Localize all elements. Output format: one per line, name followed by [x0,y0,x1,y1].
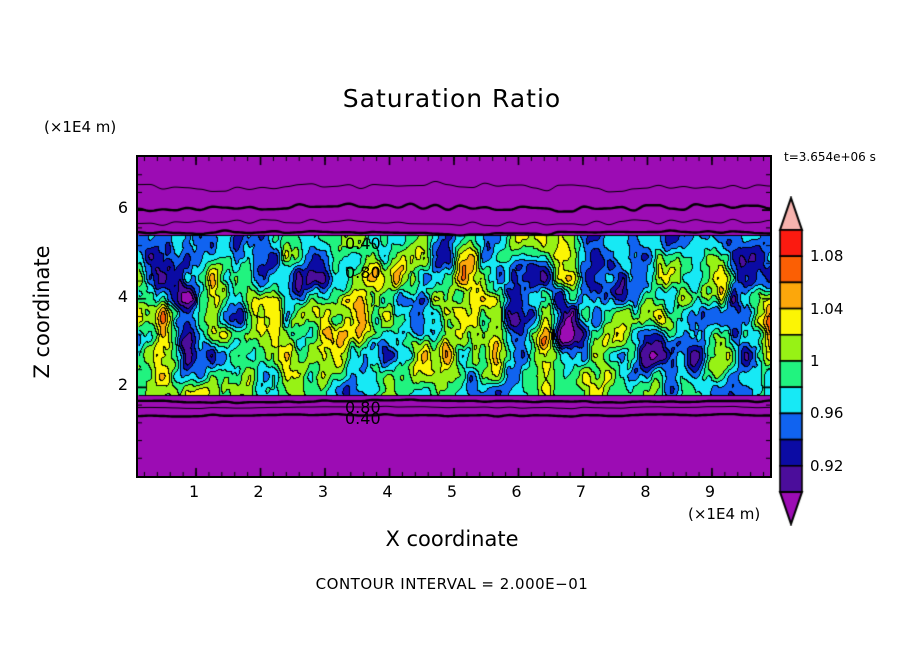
x-tick-label: 4 [373,482,403,501]
y-tick-label: 4 [102,287,128,306]
x-axis-units-label: (×1E4 m) [688,505,760,523]
timestamp-annotation: t=3.654e+06 s [784,150,876,164]
contour-field [138,157,770,476]
colorbar-tick-label: 1.08 [810,247,843,265]
page-title: Saturation Ratio [0,84,904,113]
y-tick-label: 2 [102,375,128,394]
x-tick-label: 8 [630,482,660,501]
colorbar-tick-label: 1 [810,352,820,370]
x-tick-label: 1 [179,482,209,501]
y-axis-title: Z coordinate [30,212,54,412]
x-axis-title: X coordinate [0,527,904,551]
contour-plot-area [136,155,772,478]
colorbar-gradient [776,196,806,526]
x-tick-label: 2 [244,482,274,501]
x-tick-label: 7 [566,482,596,501]
figure-canvas: Saturation Ratio (×1E4 m) t=3.654e+06 s … [0,0,904,654]
y-tick-label: 6 [102,198,128,217]
contour-value-label: 0.40 [345,409,381,428]
colorbar-tick-label: 0.96 [810,404,843,422]
colorbar: 1.081.0410.960.92 [776,196,806,526]
z-axis-units-label: (×1E4 m) [44,118,116,136]
x-tick-label: 5 [437,482,467,501]
x-tick-label: 9 [695,482,725,501]
x-tick-label: 6 [501,482,531,501]
contour-value-label: 0.40 [345,234,381,253]
contour-value-label: 0.80 [345,263,381,282]
colorbar-tick-label: 0.92 [810,457,843,475]
contour-interval-note: CONTOUR INTERVAL = 2.000E−01 [0,575,904,593]
x-tick-label: 3 [308,482,338,501]
colorbar-tick-label: 1.04 [810,300,843,318]
